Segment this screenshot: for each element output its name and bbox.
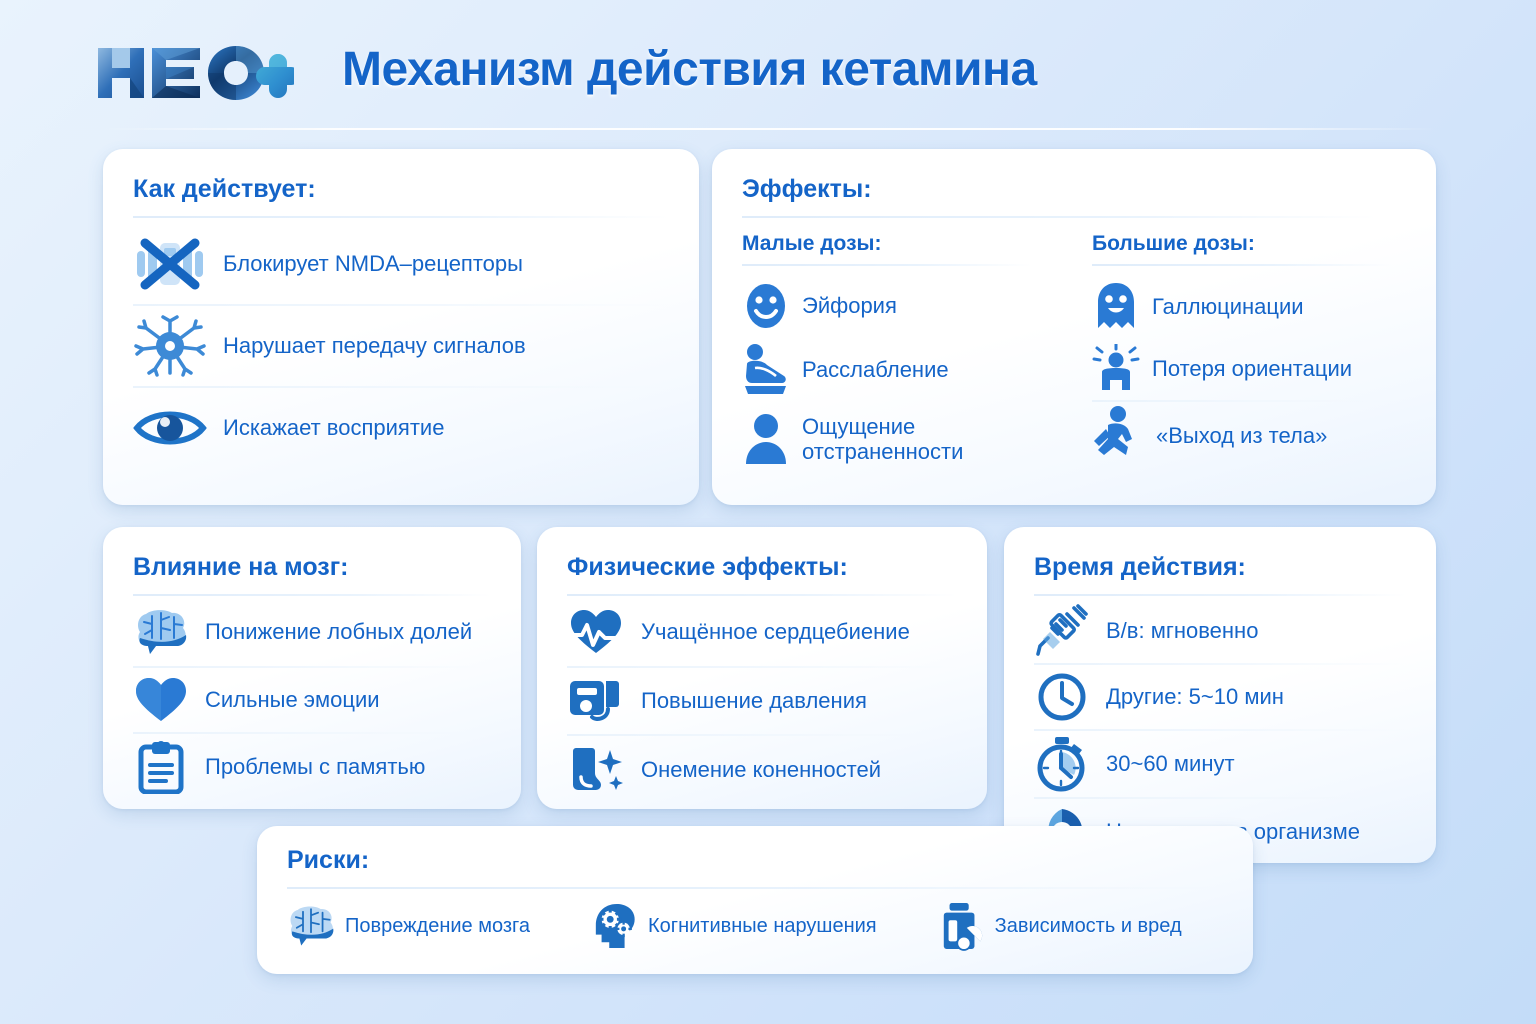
- list-item[interactable]: Проблемы с памятью: [133, 734, 491, 800]
- list-item[interactable]: Ощущение отстраненности: [742, 404, 1042, 474]
- neuron-icon: [133, 315, 207, 377]
- card-title-physical: Физические эффекты:: [567, 553, 957, 582]
- card-how-it-works: Как действует: Блокирует NMDA–рецепторы: [103, 149, 699, 505]
- list-item-label: Другие: 5~10 мин: [1106, 684, 1284, 709]
- person-bust-icon: [742, 412, 790, 466]
- card-title-effects: Эффекты:: [742, 175, 1406, 204]
- list-item[interactable]: В/в: мгновенно: [1034, 598, 1406, 663]
- smiley-face-icon: [742, 281, 790, 331]
- list-item[interactable]: Потеря ориентации: [1092, 338, 1402, 400]
- list-item[interactable]: Зависимость и вред: [939, 901, 1182, 951]
- logo-icon: [96, 42, 294, 104]
- list-item-label: Эйфория: [802, 293, 897, 318]
- list-item-label: 30~60 минут: [1106, 751, 1235, 776]
- subtitle-low-doses: Малые дозы:: [742, 232, 1042, 256]
- stopwatch-icon: [1034, 736, 1090, 792]
- card-title-how: Как действует:: [133, 175, 669, 204]
- list-item-label: Онемение коненностей: [641, 757, 881, 782]
- card-risks: Риски: Повреждение мозга: [257, 826, 1253, 974]
- list-item-label: Когнитивные нарушения: [648, 915, 877, 938]
- ghost-icon: [1092, 280, 1140, 334]
- reclining-person-icon: [742, 342, 790, 398]
- list-item[interactable]: Понижение лобных долей: [133, 598, 491, 666]
- list-item-label: Проблемы с памятью: [205, 754, 425, 779]
- list-item-label: Нарушает передачу сигналов: [223, 333, 526, 358]
- list-item-label: Учащённое сердцебиение: [641, 619, 910, 644]
- list-item[interactable]: Искажает восприятие: [133, 388, 669, 468]
- brain-icon: [133, 608, 189, 656]
- list-item-label: «Выход из тела»: [1156, 423, 1327, 448]
- page-title: Механизм действия кетамина: [342, 42, 1037, 97]
- clock-icon: [1034, 672, 1090, 722]
- card-title-risks: Риски:: [287, 846, 1223, 875]
- card-brain-impact: Влияние на мозг: Понижение лобных долей: [103, 527, 521, 809]
- list-item[interactable]: Галлюцинации: [1092, 276, 1402, 338]
- list-item[interactable]: Нарушает передачу сигналов: [133, 306, 669, 386]
- list-item[interactable]: Эйфория: [742, 276, 1042, 336]
- list-item[interactable]: Повышение давления: [567, 668, 957, 734]
- list-item[interactable]: Повреждение мозга: [287, 904, 530, 948]
- list-item-label: Понижение лобных долей: [205, 619, 472, 644]
- title-divider: [133, 216, 669, 218]
- brand-logo[interactable]: [96, 42, 294, 104]
- list-item-label: Блокирует NMDA–рецепторы: [223, 251, 523, 276]
- list-item-label: Искажает восприятие: [223, 415, 444, 440]
- heart-pulse-icon: [567, 608, 625, 656]
- numb-foot-icon: [567, 744, 625, 796]
- subtitle-high-doses: Большие дозы:: [1092, 232, 1402, 256]
- list-item-label: Галлюцинации: [1152, 294, 1304, 319]
- list-item[interactable]: «Выход из тела»: [1092, 402, 1402, 470]
- brain-icon: [287, 904, 335, 948]
- card-title-brain: Влияние на мозг:: [133, 553, 491, 582]
- clipboard-icon: [133, 740, 189, 794]
- list-item[interactable]: Сильные эмоции: [133, 668, 491, 732]
- nmda-receptor-blocked-icon: [133, 235, 207, 293]
- title-divider: [742, 216, 1376, 218]
- list-item[interactable]: Учащённое сердцебиение: [567, 598, 957, 666]
- list-item[interactable]: Другие: 5~10 мин: [1034, 665, 1406, 729]
- list-item-label: Ощущение отстраненности: [802, 414, 963, 465]
- floating-person-icon: [1092, 405, 1144, 467]
- page-header: Механизм действия кетамина: [0, 0, 1536, 132]
- title-divider: [567, 594, 957, 596]
- card-effects: Эффекты: Малые дозы: Эйфория: [712, 149, 1436, 505]
- syringe-icon: [1034, 604, 1090, 658]
- head-gears-icon: [592, 902, 638, 950]
- blood-pressure-monitor-icon: [567, 675, 625, 727]
- list-item-label: Потеря ориентации: [1152, 356, 1352, 381]
- list-item-label: Повреждение мозга: [345, 915, 530, 938]
- list-item[interactable]: Расслабление: [742, 336, 1042, 404]
- card-duration: Время действия: В/в: мгновенно: [1004, 527, 1436, 863]
- list-item-label: Повышение давления: [641, 688, 867, 713]
- list-item-label: В/в: мгновенно: [1106, 618, 1258, 643]
- header-divider: [100, 128, 1436, 130]
- title-divider: [287, 887, 1217, 889]
- list-item-label: Расслабление: [802, 357, 949, 382]
- list-item-label: Сильные эмоции: [205, 687, 380, 712]
- subtitle-divider: [742, 264, 1032, 266]
- card-title-time: Время действия:: [1034, 553, 1406, 582]
- list-item[interactable]: 30~60 минут: [1034, 731, 1406, 797]
- list-item[interactable]: Блокирует NMDA–рецепторы: [133, 224, 669, 304]
- subtitle-divider: [1092, 264, 1392, 266]
- title-divider: [1034, 594, 1406, 596]
- list-item[interactable]: Когнитивные нарушения: [592, 902, 877, 950]
- effects-column-high-dose: Большие дозы: Галлюцинации: [1092, 232, 1402, 474]
- effects-column-low-dose: Малые дозы: Эйфория: [742, 232, 1042, 474]
- pill-bottle-icon: [939, 901, 985, 951]
- card-physical-effects: Физические эффекты: Учащённое сердцебиен…: [537, 527, 987, 809]
- confused-person-icon: [1092, 344, 1140, 394]
- heart-icon: [133, 676, 189, 724]
- eye-icon: [133, 405, 207, 451]
- list-item-label: Зависимость и вред: [995, 915, 1182, 938]
- title-divider: [133, 594, 491, 596]
- list-item[interactable]: Онемение коненностей: [567, 736, 957, 804]
